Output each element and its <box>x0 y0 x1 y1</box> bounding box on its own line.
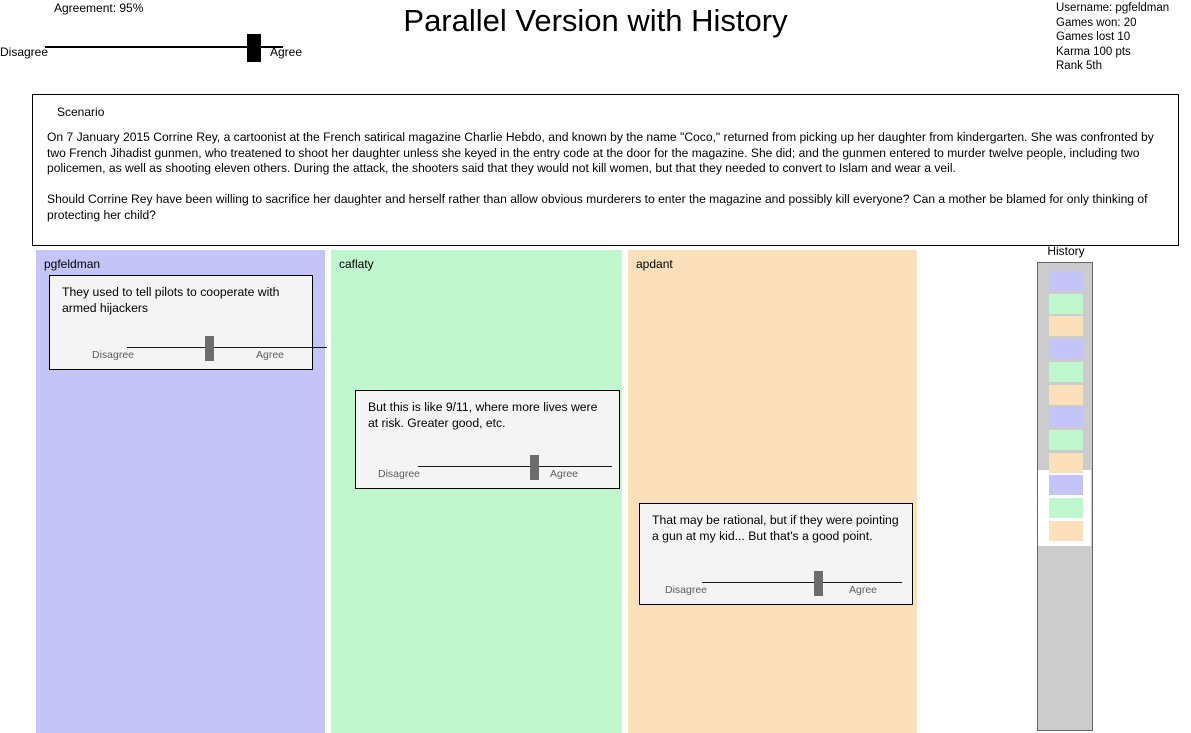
history-block[interactable] <box>1049 407 1083 427</box>
argument-card[interactable]: They used to tell pilots to cooperate wi… <box>49 275 313 370</box>
stat-karma: Karma 100 pts <box>1056 45 1186 60</box>
history-block[interactable] <box>1049 385 1083 405</box>
stat-username: Username: pgfeldman <box>1056 1 1186 16</box>
history-block[interactable] <box>1049 430 1083 450</box>
column-player-name: caflaty <box>339 257 374 271</box>
argument-card-text: They used to tell pilots to cooperate wi… <box>62 285 302 316</box>
scenario-paragraph-2: Should Corrine Rey have been willing to … <box>47 192 1168 223</box>
stat-rank: Rank 5th <box>1056 59 1186 74</box>
scenario-paragraph-1: On 7 January 2015 Corrine Rey, a cartoon… <box>47 130 1168 177</box>
history-block[interactable] <box>1049 362 1083 382</box>
scenario-panel: Scenario On 7 January 2015 Corrine Rey, … <box>32 94 1179 246</box>
card-slider-track[interactable] <box>418 466 612 467</box>
player-column-pgfeldman: pgfeldman They used to tell pilots to co… <box>36 250 325 733</box>
history-block[interactable] <box>1049 271 1083 291</box>
stat-games-lost: Games lost 10 <box>1056 30 1186 45</box>
argument-card-text: But this is like 9/11, where more lives … <box>368 400 609 431</box>
card-slider-track[interactable] <box>127 347 327 348</box>
history-block[interactable] <box>1049 453 1083 473</box>
history-block[interactable] <box>1049 294 1083 314</box>
page-title: Parallel Version with History <box>0 1 1191 41</box>
card-slider-track[interactable] <box>702 582 902 583</box>
scenario-title: Scenario <box>57 105 104 119</box>
user-stats-panel: Username: pgfeldman Games won: 20 Games … <box>1056 1 1186 74</box>
card-slider-agree-label: Agree <box>550 468 578 480</box>
history-block[interactable] <box>1049 316 1083 336</box>
argument-card[interactable]: But this is like 9/11, where more lives … <box>355 390 620 489</box>
card-slider-handle[interactable] <box>205 336 214 361</box>
argument-card[interactable]: That may be rational, but if they were p… <box>639 503 913 605</box>
history-title: History <box>1037 244 1095 258</box>
global-slider-disagree-label: Disagree <box>0 45 48 59</box>
argument-card-text: That may be rational, but if they were p… <box>652 513 902 544</box>
column-player-name: apdant <box>636 257 673 271</box>
history-block[interactable] <box>1049 521 1083 541</box>
card-slider-disagree-label: Disagree <box>665 584 707 596</box>
player-column-caflaty: caflaty But this is like 9/11, where mor… <box>331 250 622 733</box>
card-slider-agree-label: Agree <box>849 584 877 596</box>
history-panel[interactable] <box>1037 262 1093 731</box>
stat-games-won: Games won: 20 <box>1056 16 1186 31</box>
argument-card-slider[interactable]: Disagree Agree <box>356 452 619 482</box>
history-block[interactable] <box>1049 498 1083 518</box>
column-player-name: pgfeldman <box>44 257 100 271</box>
card-slider-disagree-label: Disagree <box>378 468 420 480</box>
card-slider-handle[interactable] <box>814 571 823 596</box>
card-slider-handle[interactable] <box>530 455 539 480</box>
history-block[interactable] <box>1049 339 1083 359</box>
player-column-apdant: apdant That may be rational, but if they… <box>628 250 917 733</box>
history-block[interactable] <box>1049 475 1083 495</box>
scenario-body: On 7 January 2015 Corrine Rey, a cartoon… <box>47 130 1168 224</box>
argument-card-slider[interactable]: Disagree Agree <box>50 333 312 363</box>
argument-card-slider[interactable]: Disagree Agree <box>640 568 912 598</box>
card-slider-agree-label: Agree <box>256 349 284 361</box>
card-slider-disagree-label: Disagree <box>92 349 134 361</box>
